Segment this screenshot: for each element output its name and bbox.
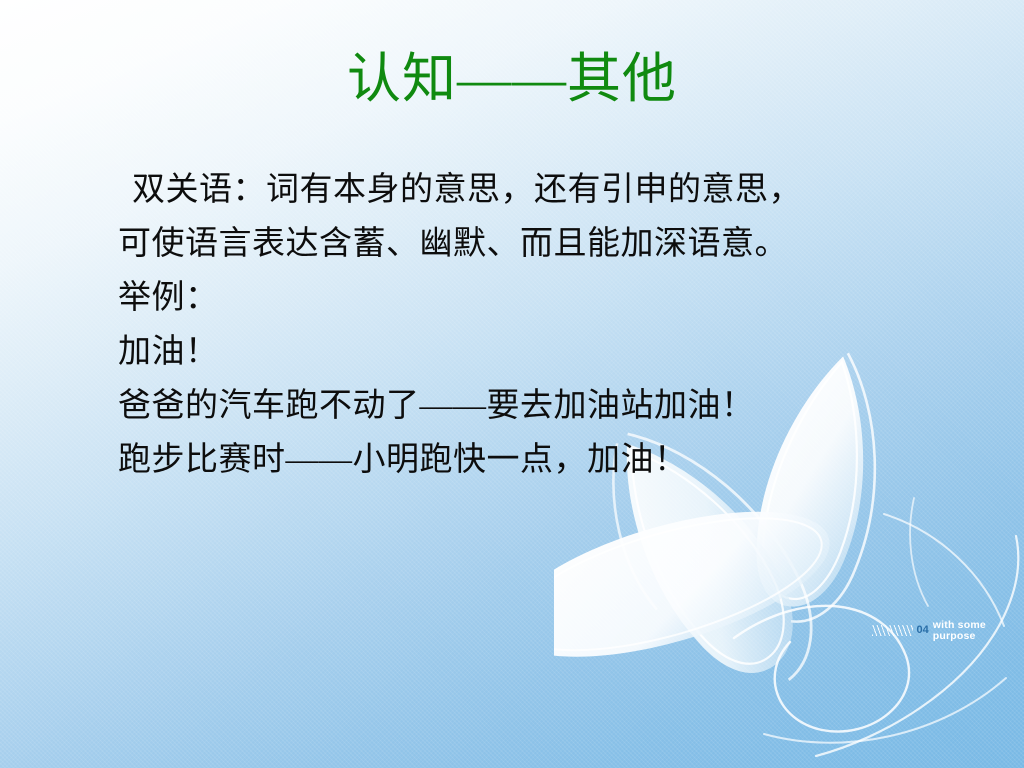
slide-body-text: 双关语：词有本身的意思，还有引申的意思， 可使语言表达含蓄、幽默、而且能加深语意… [118,163,958,487]
body-line-5: 爸爸的汽车跑不动了——要去加油站加油！ [118,379,958,433]
body-line-4: 加油！ [118,325,958,379]
watermark: 04 with some purpose [872,620,1024,641]
watermark-number: 04 [917,625,929,636]
body-line-1: 双关语：词有本身的意思，还有引申的意思， [118,163,958,217]
body-line-6: 跑步比赛时——小明跑快一点，加油！ [118,433,958,487]
body-line-2: 可使语言表达含蓄、幽默、而且能加深语意。 [118,217,958,271]
presentation-slide: 04 with some purpose 认知——其他 双关语：词有本身的意思，… [0,0,1024,768]
slide-title: 认知——其他 [0,50,1024,109]
swoosh-lines [734,498,1018,756]
petal-horizontal-bottom [554,482,845,686]
body-line-3: 举例： [118,271,958,325]
watermark-text: with some purpose [933,620,1024,641]
hatch-lines-icon [872,625,913,636]
